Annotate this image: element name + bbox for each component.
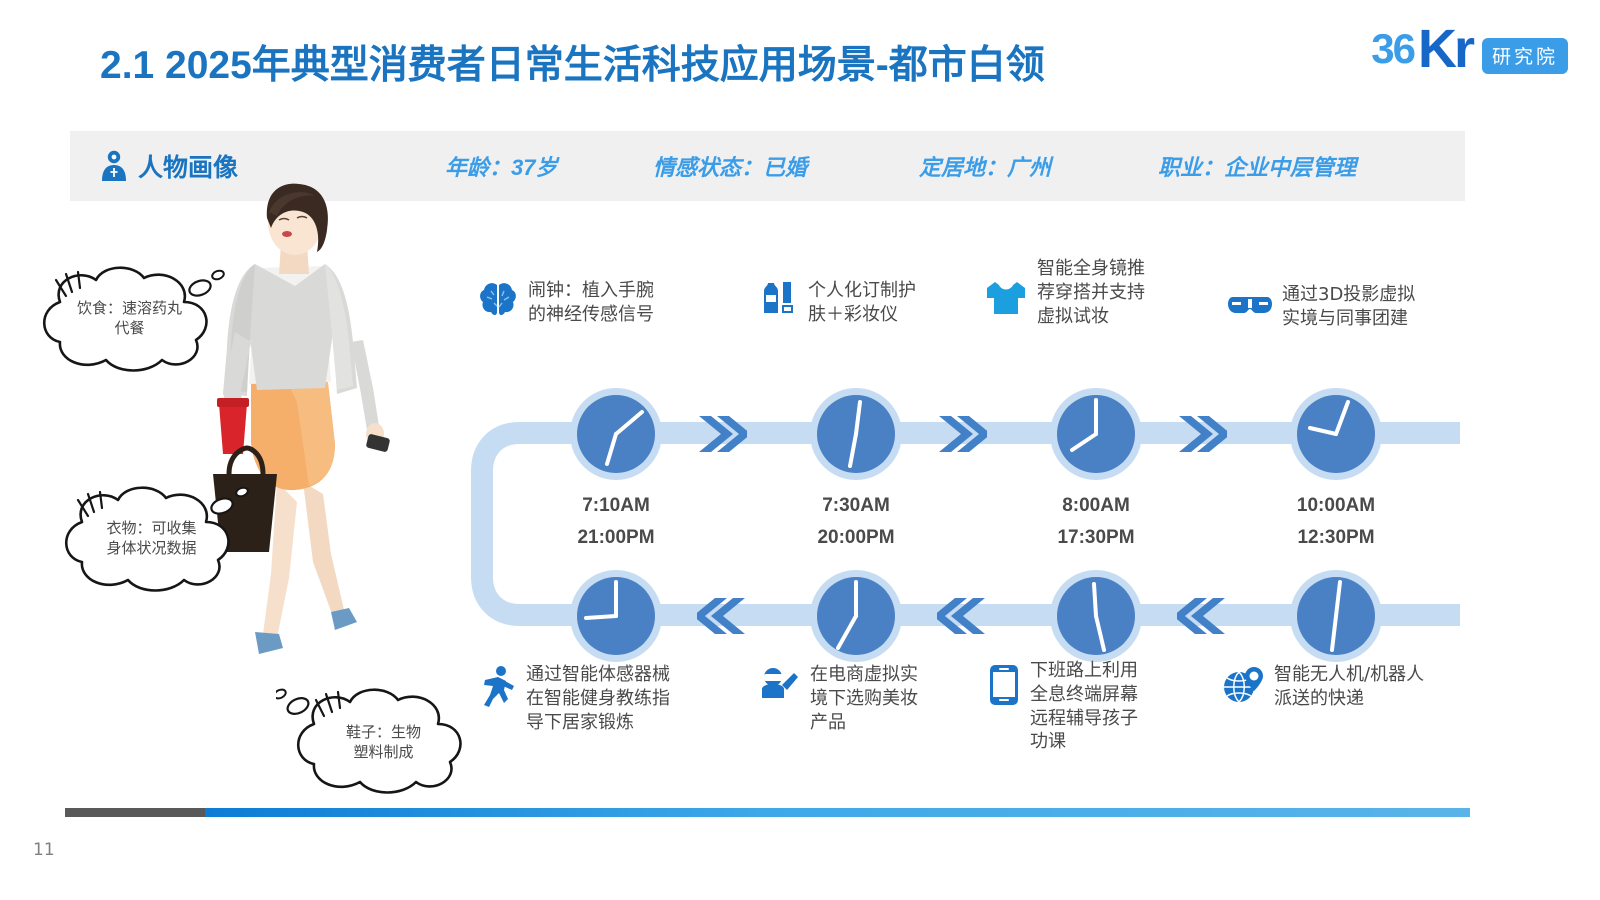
logo-research-badge: 研究院 (1482, 38, 1568, 74)
profile-field-occupation: 职业：企业中层管理 (1158, 150, 1356, 182)
timeline-time-2: 7:30AM (776, 495, 936, 517)
timeline-time-6: 20:00PM (776, 527, 936, 549)
vr-user-icon (760, 667, 800, 701)
page-number: 11 (33, 840, 55, 860)
timeline-time-1: 7:10AM (536, 495, 696, 517)
globe-pin-icon (1222, 665, 1264, 705)
caption-group-3: 智能全身镜推 荐穿搭并支持 虚拟试妆 (985, 257, 1185, 328)
clock-hands-icon (1050, 388, 1142, 480)
timeline-time-4: 10:00AM (1256, 495, 1416, 517)
person-icon (100, 150, 128, 182)
timeline-time-8: 12:30PM (1256, 527, 1416, 549)
thought-bubble-clothing: 衣物：可收集 身体状况数据 (44, 482, 259, 597)
caption-text-8: 智能无人机/机器人 派送的快递 (1274, 663, 1424, 711)
caption-text-6: 在电商虚拟实 境下选购美妆 产品 (810, 663, 918, 734)
chevron-left-icon-3 (1177, 592, 1227, 640)
timeline-time-3: 8:00AM (1016, 495, 1176, 517)
profile-title-group: 人物画像 (100, 148, 330, 184)
footer-progress-bar (65, 808, 1470, 817)
logo-36-text: 36 (1371, 28, 1414, 70)
running-person-icon (480, 665, 516, 709)
timeline: 7:10AM 7:30AM 8:00AM (460, 255, 1480, 795)
caption-group-7: 下班路上利用 全息终端屏幕 远程辅导孩子 功课 (988, 659, 1173, 754)
clock-hands-icon (1290, 388, 1382, 480)
clock-hands-icon (570, 570, 662, 662)
clock-hands-icon (1050, 570, 1142, 662)
timeline-node-8[interactable] (1290, 570, 1382, 662)
caption-group-5: 通过智能体感器械 在智能健身教练指 导下居家锻炼 (480, 663, 705, 734)
bubble-text-shoes: 鞋子：生物 塑料制成 (276, 722, 491, 763)
timeline-node-1[interactable] (570, 388, 662, 480)
profile-field-age: 年龄：37岁 (445, 150, 557, 182)
profile-field-residence: 定居地：广州 (919, 150, 1051, 182)
clock-hands-icon (810, 388, 902, 480)
profile-field-marital: 情感状态：已婚 (653, 150, 807, 182)
brain-icon (478, 279, 518, 319)
caption-text-7: 下班路上利用 全息终端屏幕 远程辅导孩子 功课 (1030, 659, 1138, 754)
clock-hands-icon (1290, 570, 1382, 662)
logo-kr-text: Kr (1418, 22, 1472, 76)
footer-bar-blue-segment (205, 808, 1470, 817)
footer-bar-dark-segment (65, 808, 205, 817)
timeline-node-4[interactable] (1290, 388, 1382, 480)
page-title: 2.1 2025年典型消费者日常生活科技应用场景-都市白领 (100, 34, 1045, 90)
businesswoman-illustration (185, 182, 405, 682)
caption-group-8: 智能无人机/机器人 派送的快递 (1222, 663, 1437, 711)
chevron-left-icon-2 (937, 592, 987, 640)
caption-group-2: 个人化订制护 肤＋彩妆仪 (760, 279, 960, 327)
smartphone-icon (988, 663, 1020, 707)
timeline-time-7: 17:30PM (1016, 527, 1176, 549)
cosmetics-icon (760, 279, 798, 319)
timeline-node-7[interactable] (1050, 570, 1142, 662)
bubble-text-food: 饮食：速溶药丸 代餐 (22, 298, 237, 339)
slide-root: 2.1 2025年典型消费者日常生活科技应用场景-都市白领 36 Kr 研究院 … (0, 0, 1600, 900)
timeline-time-5: 21:00PM (536, 527, 696, 549)
chevron-right-icon-1 (697, 410, 747, 458)
thought-bubble-shoes: 鞋子：生物 塑料制成 (276, 684, 491, 799)
caption-group-6: 在电商虚拟实 境下选购美妆 产品 (760, 663, 940, 734)
caption-text-2: 个人化订制护 肤＋彩妆仪 (808, 279, 916, 327)
thought-bubble-food: 饮食：速溶药丸 代餐 (22, 262, 237, 377)
clock-hands-icon (570, 388, 662, 480)
caption-text-4: 通过3D投影虚拟 实境与同事团建 (1282, 283, 1415, 331)
chevron-right-icon-3 (1177, 410, 1227, 458)
vr-headset-icon (1228, 289, 1272, 319)
brand-logo: 36 Kr 研究院 (1371, 22, 1568, 76)
caption-text-5: 通过智能体感器械 在智能健身教练指 导下居家锻炼 (526, 663, 670, 734)
timeline-node-3[interactable] (1050, 388, 1142, 480)
profile-title-label: 人物画像 (138, 148, 238, 184)
caption-text-3: 智能全身镜推 荐穿搭并支持 虚拟试妆 (1037, 257, 1145, 328)
clock-hands-icon (810, 570, 902, 662)
timeline-node-6[interactable] (810, 570, 902, 662)
chevron-left-icon-1 (697, 592, 747, 640)
caption-text-1: 闹钟：植入手腕 的神经传感信号 (528, 279, 654, 327)
timeline-node-5[interactable] (570, 570, 662, 662)
chevron-right-icon-2 (937, 410, 987, 458)
bubble-text-clothing: 衣物：可收集 身体状况数据 (44, 518, 259, 559)
caption-group-1: 闹钟：植入手腕 的神经传感信号 (478, 279, 693, 327)
caption-group-4: 通过3D投影虚拟 实境与同事团建 (1228, 283, 1443, 331)
tshirt-icon (985, 279, 1027, 319)
timeline-node-2[interactable] (810, 388, 902, 480)
